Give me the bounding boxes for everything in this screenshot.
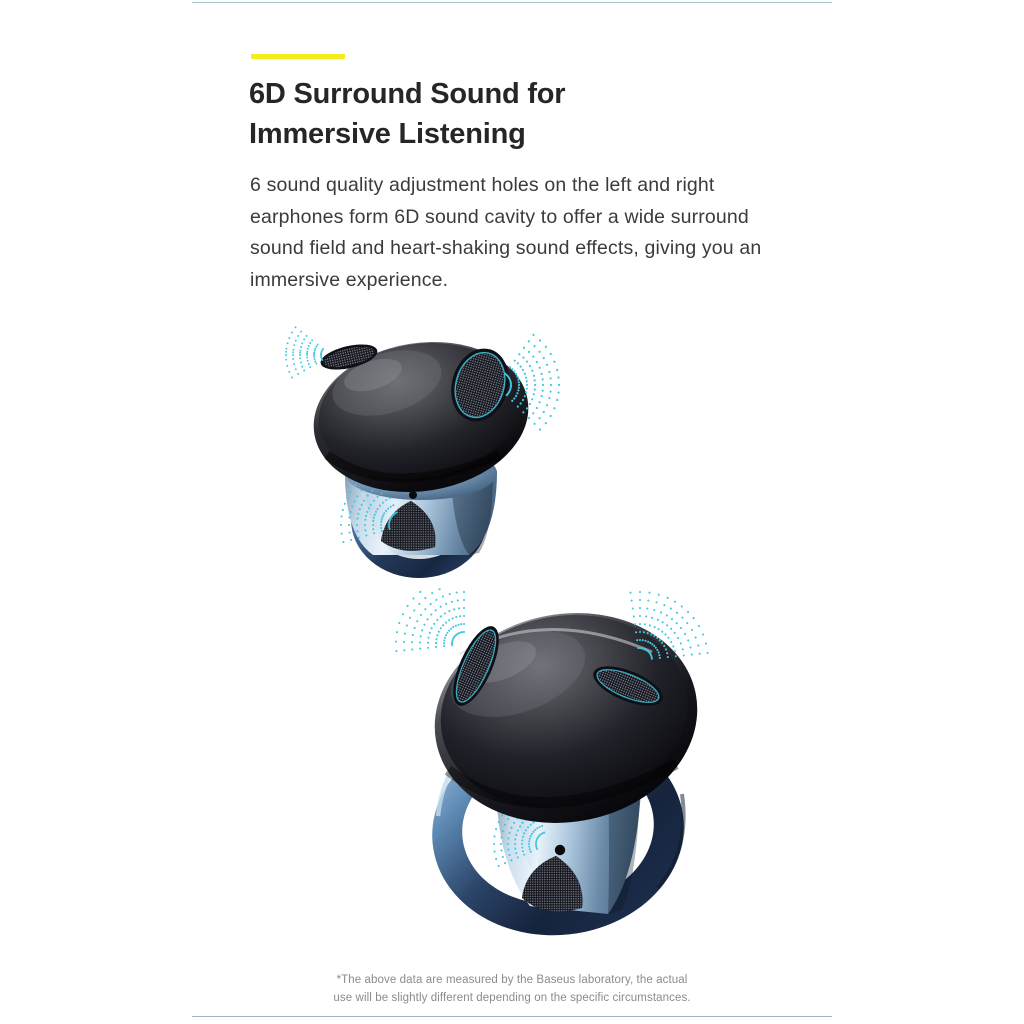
feature-description: 6 sound quality adjustment holes on the … xyxy=(250,170,790,296)
earbud-microphone-dot xyxy=(409,491,417,499)
bottom-divider xyxy=(192,1016,832,1017)
earbud-image-top xyxy=(283,305,563,590)
earbud-microphone-dot xyxy=(555,845,565,855)
disclaimer-footnote: *The above data are measured by the Base… xyxy=(0,972,1024,1008)
earbud-image-bottom xyxy=(390,588,725,963)
top-divider xyxy=(192,2,832,3)
product-feature-page: 6D Surround Sound for Immersive Listenin… xyxy=(0,0,1024,1024)
page-title: 6D Surround Sound for Immersive Listenin… xyxy=(249,74,869,154)
soundwave-fan-left xyxy=(283,325,326,381)
yellow-accent-bar xyxy=(251,54,345,59)
